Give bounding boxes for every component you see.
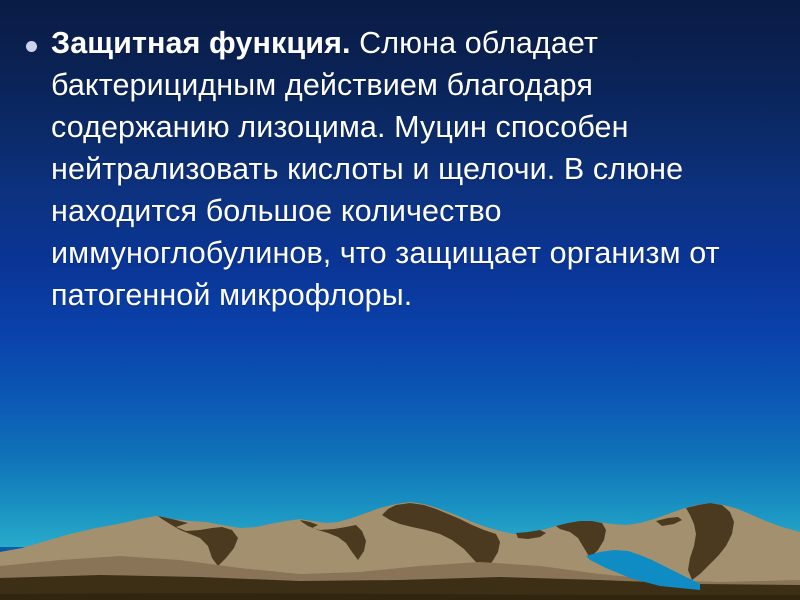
slide-canvas: Защитная функция. Слюна обладает бактери… bbox=[0, 0, 800, 600]
bullet-body-text: Слюна обладает бактерицидным действием б… bbox=[51, 26, 720, 312]
bullet-lead-phrase: Защитная функция. bbox=[51, 26, 351, 60]
bullet-paragraph: Защитная функция. Слюна обладает бактери… bbox=[51, 22, 766, 316]
bullet-list-item: Защитная функция. Слюна обладает бактери… bbox=[26, 22, 766, 316]
bullet-point-icon bbox=[26, 41, 37, 52]
